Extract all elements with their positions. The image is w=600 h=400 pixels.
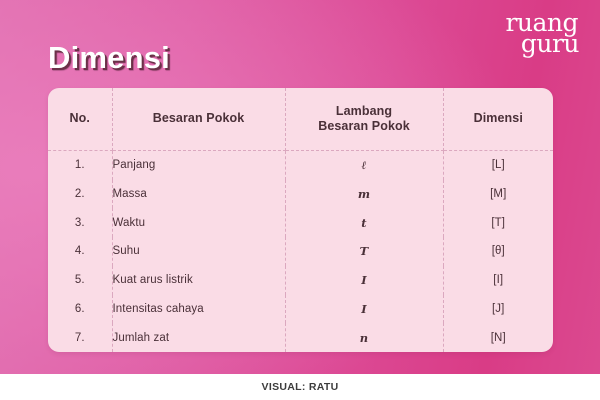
cell-dimension: [L]: [443, 151, 553, 180]
cell-name: Massa: [112, 180, 285, 209]
cell-dimension: [J]: [443, 295, 553, 324]
footer-bar: VISUAL: RATU: [0, 374, 600, 400]
table-header-row: No. Besaran Pokok Lambang Besaran Pokok …: [48, 88, 553, 151]
column-header-lambang-line1: Lambang: [336, 104, 392, 118]
cell-dimension: [T]: [443, 208, 553, 237]
cell-dimension: [θ]: [443, 237, 553, 266]
table-body: 1. Panjang ℓ [L] 2. Massa m [M] 3. Waktu…: [48, 151, 553, 353]
table-header: No. Besaran Pokok Lambang Besaran Pokok …: [48, 88, 553, 151]
page-title: Dimensi: [48, 40, 170, 76]
cell-no: 2.: [48, 180, 112, 209]
dimension-table-card: No. Besaran Pokok Lambang Besaran Pokok …: [48, 88, 553, 352]
column-header-besaran-pokok: Besaran Pokok: [112, 88, 285, 151]
column-header-no: No.: [48, 88, 112, 151]
cell-no: 3.: [48, 208, 112, 237]
cell-symbol: T: [285, 237, 443, 266]
cell-dimension: [M]: [443, 180, 553, 209]
cell-symbol: ℓ: [285, 151, 443, 180]
cell-symbol: I: [285, 266, 443, 295]
table-row: 1. Panjang ℓ [L]: [48, 151, 553, 180]
cell-name: Kuat arus listrik: [112, 266, 285, 295]
cell-no: 4.: [48, 237, 112, 266]
cell-dimension: [I]: [443, 266, 553, 295]
column-header-lambang-besaran-pokok: Lambang Besaran Pokok: [285, 88, 443, 151]
cell-no: 7.: [48, 323, 112, 352]
cell-name: Waktu: [112, 208, 285, 237]
cell-no: 6.: [48, 295, 112, 324]
cell-name: Panjang: [112, 151, 285, 180]
table-row: 5. Kuat arus listrik I [I]: [48, 266, 553, 295]
cell-name: Jumlah zat: [112, 323, 285, 352]
ruangguru-logo: ruang guru: [505, 12, 578, 54]
cell-no: 5.: [48, 266, 112, 295]
cell-symbol: m: [285, 180, 443, 209]
cell-no: 1.: [48, 151, 112, 180]
visual-credit: VISUAL: RATU: [262, 381, 339, 393]
slide-canvas: ruang guru Dimensi No. Besaran Pokok Lam…: [0, 0, 600, 400]
table-row: 4. Suhu T [θ]: [48, 237, 553, 266]
cell-name: Intensitas cahaya: [112, 295, 285, 324]
cell-name: Suhu: [112, 237, 285, 266]
cell-symbol: I: [285, 295, 443, 324]
table-row: 3. Waktu t [T]: [48, 208, 553, 237]
cell-dimension: [N]: [443, 323, 553, 352]
column-header-dimensi: Dimensi: [443, 88, 553, 151]
cell-symbol: t: [285, 208, 443, 237]
table-row: 6. Intensitas cahaya I [J]: [48, 295, 553, 324]
cell-symbol: n: [285, 323, 443, 352]
table-row: 2. Massa m [M]: [48, 180, 553, 209]
dimension-table: No. Besaran Pokok Lambang Besaran Pokok …: [48, 88, 553, 352]
column-header-lambang-line2: Besaran Pokok: [318, 119, 410, 133]
table-row: 7. Jumlah zat n [N]: [48, 323, 553, 352]
